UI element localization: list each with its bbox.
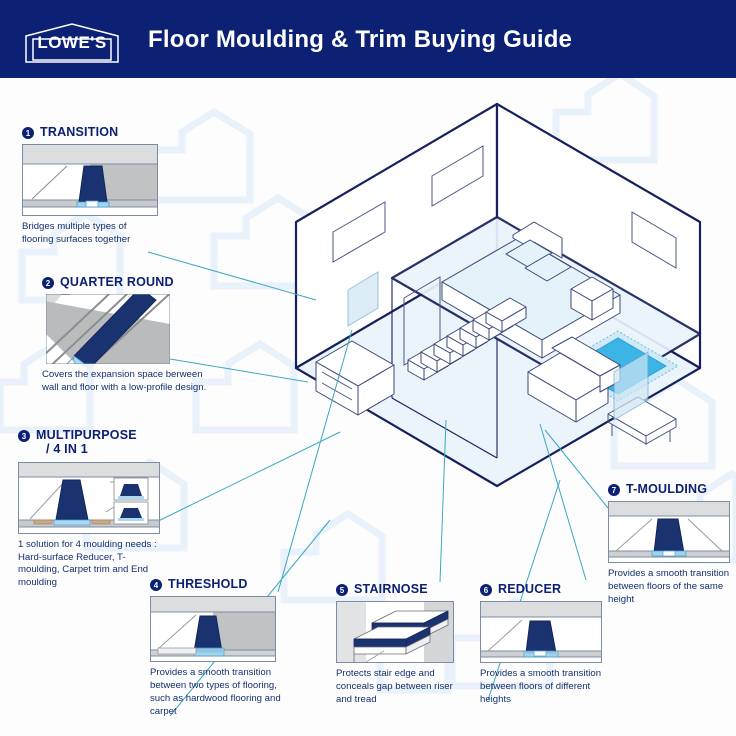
callout-title: MULTIPURPOSE / 4 IN 1 — [36, 428, 137, 457]
callout-quarter-round: 2 QUARTER ROUND Covers the expansion spa… — [42, 275, 217, 395]
infographic-canvas: LOWE'S Floor Moulding & Trim Buying Guid… — [0, 0, 736, 736]
callout-header: 6 REDUCER — [480, 582, 608, 596]
callout-transition: 1 TRANSITION Bridges multiple types of f… — [22, 125, 177, 247]
callout-title: TRANSITION — [40, 125, 118, 139]
callout-title: QUARTER ROUND — [60, 275, 174, 289]
callout-description: Provides a smooth transition between flo… — [480, 668, 605, 707]
threshold-moulding-diagram — [150, 596, 276, 662]
multipurpose-moulding-diagram — [18, 462, 160, 534]
callout-description: Protects stair edge and conceals gap bet… — [336, 668, 456, 707]
callout-badge-2: 2 — [42, 277, 54, 289]
stairnose-moulding-diagram — [336, 601, 454, 663]
callout-description: 1 solution for 4 moulding needs : Hard-s… — [18, 539, 158, 590]
callout-header: 1 TRANSITION — [22, 125, 177, 139]
lowes-logo-text: LOWE'S — [22, 22, 122, 64]
callout-description: Provides a smooth transition between flo… — [608, 568, 730, 607]
callout-header: 3 MULTIPURPOSE / 4 IN 1 — [18, 428, 178, 457]
callout-badge-3: 3 — [18, 430, 30, 442]
callout-header: 5 STAIRNOSE — [336, 582, 466, 596]
callout-description: Covers the expansion space berween wall … — [42, 369, 207, 395]
callout-badge-7: 7 — [608, 484, 620, 496]
callout-badge-4: 4 — [150, 579, 162, 591]
callout-reducer: 6 REDUCER Provides a smooth transition b… — [480, 582, 608, 707]
callout-title: T-MOULDING — [626, 482, 707, 496]
callout-badge-1: 1 — [22, 127, 34, 139]
callout-badge-5: 5 — [336, 584, 348, 596]
callout-stairnose: 5 STAIRNOSE Protects stair edge and conc… — [336, 582, 466, 707]
callout-header: 2 QUARTER ROUND — [42, 275, 217, 289]
callout-title-line2: / 4 IN 1 — [46, 442, 88, 456]
callout-header: 4 THRESHOLD — [150, 577, 305, 591]
lowes-logo[interactable]: LOWE'S — [22, 22, 122, 64]
transition-moulding-diagram — [22, 144, 158, 216]
callout-title: STAIRNOSE — [354, 582, 428, 596]
callout-t-moulding: 7 T-MOULDING Provides a smooth transitio… — [608, 482, 736, 607]
reducer-moulding-diagram — [480, 601, 602, 663]
t-moulding-diagram — [608, 501, 730, 563]
quarter-round-moulding-diagram — [46, 294, 170, 364]
callout-threshold: 4 THRESHOLD Provides a smooth transition… — [150, 577, 305, 719]
page-title: Floor Moulding & Trim Buying Guide — [148, 26, 572, 54]
header-bar: LOWE'S Floor Moulding & Trim Buying Guid… — [0, 0, 736, 78]
callout-title: THRESHOLD — [168, 577, 248, 591]
callout-multipurpose: 3 MULTIPURPOSE / 4 IN 1 — [18, 428, 178, 590]
callout-description: Provides a smooth transition between two… — [150, 667, 298, 718]
callout-description: Bridges multiple types of flooring surfa… — [22, 221, 152, 247]
callout-badge-6: 6 — [480, 584, 492, 596]
callout-title-line1: MULTIPURPOSE — [36, 428, 137, 442]
callout-title: REDUCER — [498, 582, 561, 596]
callout-header: 7 T-MOULDING — [608, 482, 736, 496]
